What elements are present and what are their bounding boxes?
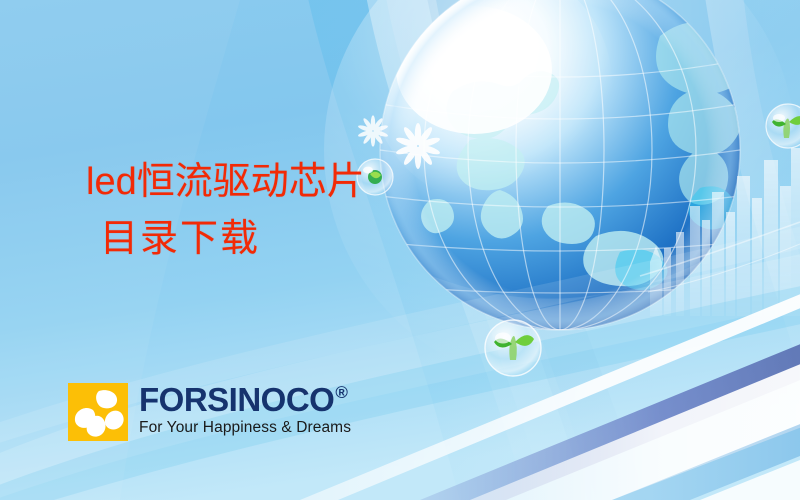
brand-name: FORSINOCO xyxy=(139,383,334,416)
bubble-sprout xyxy=(485,320,541,376)
headline-line-1: led恒流驱动芯片 xyxy=(86,162,365,203)
logo-pinwheel-icon xyxy=(68,383,128,441)
brand-tagline: For Your Happiness & Dreams xyxy=(139,419,351,437)
logo-text-block: FORSINOCO ® For Your Happiness & Dreams xyxy=(139,383,351,437)
headline-line-2: 目录下载 xyxy=(100,219,365,260)
poster-canvas: led恒流驱动芯片 目录下载 FORSINOCO ® For Your Happ… xyxy=(0,0,800,500)
registered-trademark-icon: ® xyxy=(335,384,347,401)
headline-block: led恒流驱动芯片 目录下载 xyxy=(86,162,365,260)
brand-logo: FORSINOCO ® For Your Happiness & Dreams xyxy=(68,383,351,441)
brand-wordmark: FORSINOCO ® xyxy=(139,383,351,416)
